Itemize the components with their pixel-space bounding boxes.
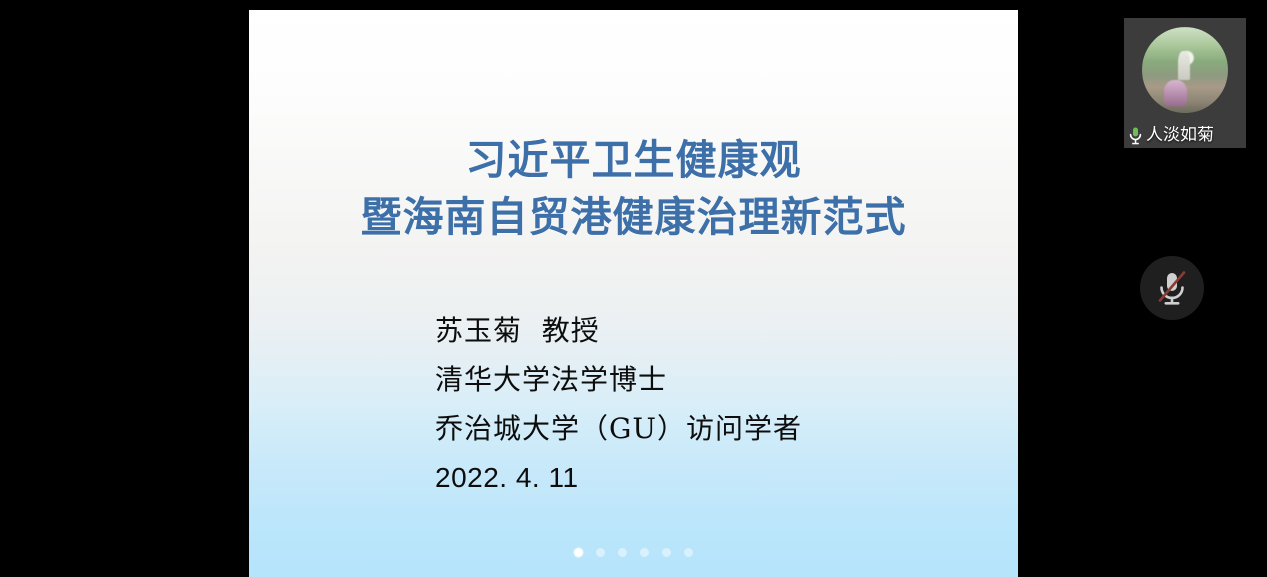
- slide-title: 习近平卫生健康观 暨海南自贸港健康治理新范式: [249, 132, 1018, 246]
- slide-body: 苏玉菊 教授 清华大学法学博士 乔治城大学（GU）访问学者 2022. 4. 1…: [435, 306, 995, 502]
- slide-pagination-dots[interactable]: [249, 548, 1018, 557]
- avatar-photo: [1142, 27, 1228, 113]
- slide-dot-4[interactable]: [640, 548, 649, 557]
- microphone-muted-icon: [1154, 269, 1190, 307]
- mute-button[interactable]: [1140, 256, 1204, 320]
- slide-body-line-date: 2022. 4. 11: [435, 453, 995, 502]
- slide-dot-3[interactable]: [618, 548, 627, 557]
- avatar: [1142, 27, 1228, 113]
- slide-dot-5[interactable]: [662, 548, 671, 557]
- participant-name-row: 人淡如菊: [1128, 126, 1214, 145]
- participant-thumbnail[interactable]: 人淡如菊: [1124, 18, 1246, 148]
- shared-screen-area[interactable]: 习近平卫生健康观 暨海南自贸港健康治理新范式 苏玉菊 教授 清华大学法学博士 乔…: [249, 10, 1018, 577]
- slide-dot-1[interactable]: [574, 548, 583, 557]
- slide-body-line-degree: 清华大学法学博士: [435, 355, 995, 404]
- slide-body-line-affiliation: 乔治城大学（GU）访问学者: [435, 404, 995, 453]
- video-call-screen: 习近平卫生健康观 暨海南自贸港健康治理新范式 苏玉菊 教授 清华大学法学博士 乔…: [0, 0, 1267, 577]
- slide-dot-6[interactable]: [684, 548, 693, 557]
- slide-dot-2[interactable]: [596, 548, 605, 557]
- microphone-active-icon: [1128, 126, 1143, 145]
- participant-name-label: 人淡如菊: [1146, 126, 1214, 145]
- slide-body-line-presenter: 苏玉菊 教授: [435, 306, 995, 355]
